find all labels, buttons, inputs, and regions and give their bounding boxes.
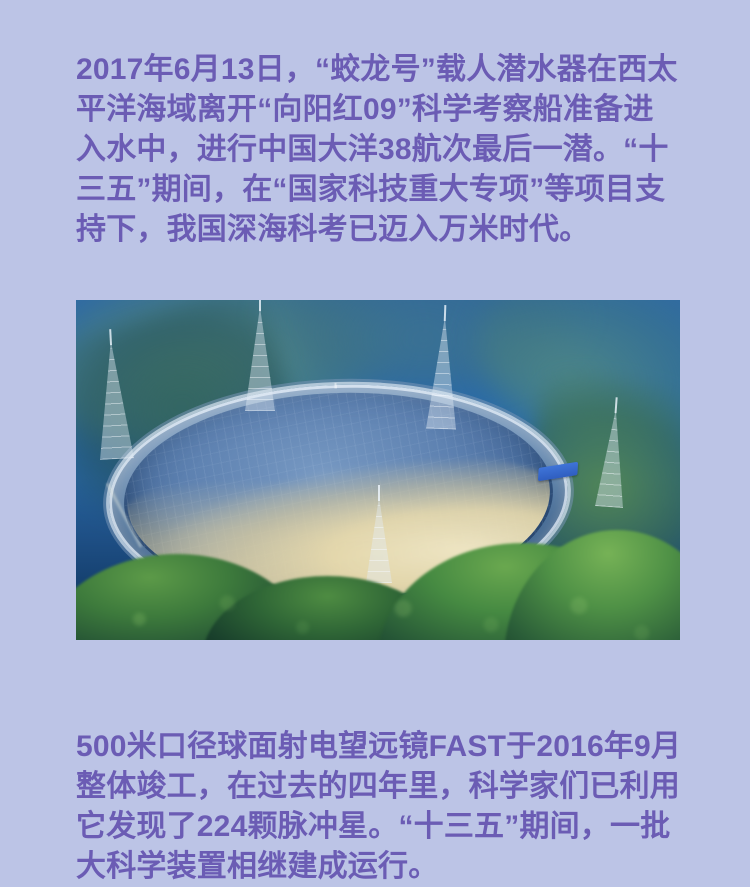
top-paragraph: 2017年6月13日，“蛟龙号”载人潜水器在西太平洋海域离开“向阳红09”科学考… — [76, 50, 682, 250]
fast-telescope-photo — [76, 300, 680, 640]
photo-canvas — [76, 300, 680, 640]
tree-canopy-texture — [76, 524, 680, 640]
foreground-forested-hills — [76, 524, 680, 640]
infographic-page: 2017年6月13日，“蛟龙号”载人潜水器在西太平洋海域离开“向阳红09”科学考… — [0, 0, 750, 876]
bottom-paragraph: 500米口径球面射电望远镜FAST于2016年9月整体竣工，在过去的四年里，科学… — [76, 727, 682, 887]
